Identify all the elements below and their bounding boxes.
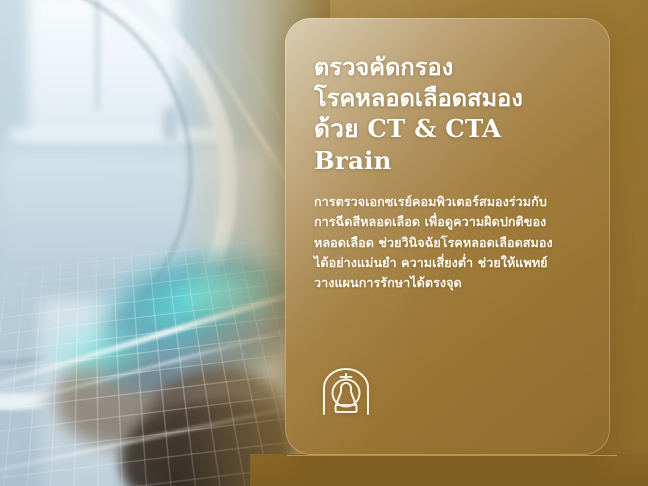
ct-scanner-patient-photo xyxy=(0,0,330,486)
description-line-1: การตรวจเอกซเรย์คอมพิวเตอร์สมองร่วมกับ xyxy=(314,192,582,212)
description-line-2: การฉีดสีหลอดเลือด เพื่อดูความผิดปกติของ xyxy=(314,212,582,232)
title-line-1: ตรวจคัดกรอง xyxy=(314,52,582,83)
ct-scanner-icon-glyph xyxy=(318,366,374,422)
banner-root: ตรวจคัดกรอง โรคหลอดเลือดสมอง ด้วย CT & C… xyxy=(0,0,648,486)
description-line-3: หลอดเลือด ช่วยวินิจฉัยโรคหลอดเลือดสมอง xyxy=(314,233,582,253)
layout-spacer xyxy=(314,294,582,363)
description-line-5: วางแผนการรักษาได้ตรงจุด xyxy=(314,273,582,293)
content-card: ตรวจคัดกรอง โรคหลอดเลือดสมอง ด้วย CT & C… xyxy=(285,18,610,455)
ct-scanner-icon xyxy=(315,363,377,425)
title-line-3: ด้วย CT & CTA Brain xyxy=(314,113,582,177)
bottom-band xyxy=(250,454,648,486)
page-title: ตรวจคัดกรอง โรคหลอดเลือดสมอง ด้วย CT & C… xyxy=(314,52,582,177)
title-line-2: โรคหลอดเลือดสมอง xyxy=(314,83,582,114)
title-line-3-thai-prefix: ด้วย xyxy=(314,114,367,143)
description-paragraph: การตรวจเอกซเรย์คอมพิวเตอร์สมองร่วมกับ กา… xyxy=(314,192,582,294)
description-line-4: ได้อย่างแม่นยำ ความเสี่ยงต่ำ ช่วยให้แพทย… xyxy=(314,253,582,273)
bottom-band-divider xyxy=(287,455,617,456)
